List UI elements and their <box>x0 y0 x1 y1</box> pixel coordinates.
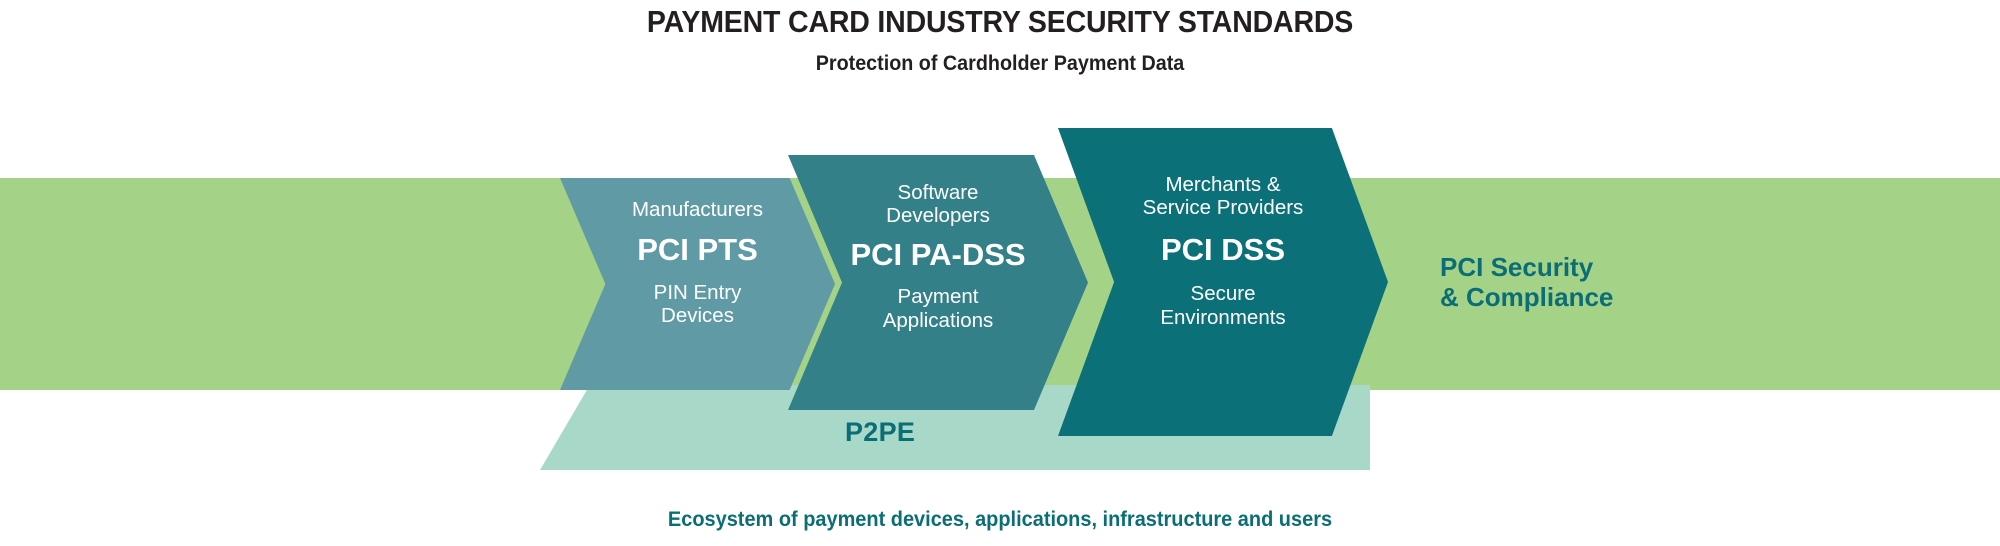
band-label-line1: PCI Security <box>1440 252 1613 282</box>
band-label: PCI Security & Compliance <box>1440 252 1613 312</box>
chevron-dss-audience-line2: Service Providers <box>1058 196 1388 219</box>
chevron-padss-scope-line2: Applications <box>788 309 1088 332</box>
chevron-pts-audience: Manufacturers <box>560 198 835 221</box>
chevron-dss-scope-line2: Environments <box>1058 306 1388 329</box>
band-label-line2: & Compliance <box>1440 282 1613 312</box>
chevron-padss-audience-line1: Software <box>788 181 1088 204</box>
page-subtitle: Protection of Cardholder Payment Data <box>60 52 1940 76</box>
chevron-dss-standard: PCI DSS <box>1058 233 1388 267</box>
chevron-pts-scope-line2: Devices <box>560 304 835 327</box>
chevron-dss-audience-line1: Merchants & <box>1058 173 1388 196</box>
pci-standards-diagram: PAYMENT CARD INDUSTRY SECURITY STANDARDS… <box>0 0 2000 546</box>
chevron-pts-standard: PCI PTS <box>560 233 835 267</box>
footer-caption: Ecosystem of payment devices, applicatio… <box>50 508 1950 532</box>
chevron-padss-audience-line2: Developers <box>788 204 1088 227</box>
page-title: PAYMENT CARD INDUSTRY SECURITY STANDARDS <box>80 4 1920 40</box>
p2pe-label: P2PE <box>845 417 915 448</box>
